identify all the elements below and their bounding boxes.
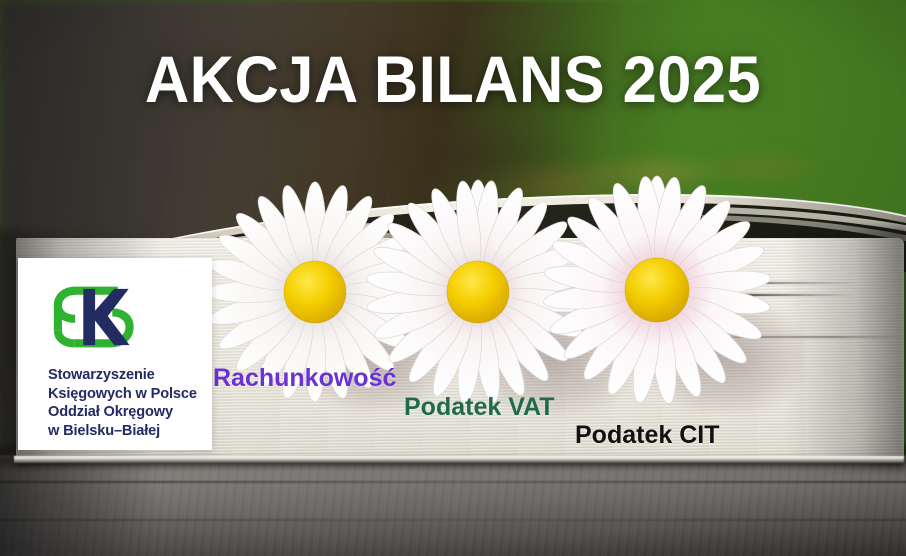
logo-line-3: Oddział Okręgowy: [48, 403, 206, 422]
logo-line-1: Stowarzyszenie: [48, 366, 206, 385]
organization-name: Stowarzyszenie Księgowych w Polsce Oddzi…: [48, 366, 206, 440]
logo-line-4: w Bielsku–Białej: [48, 422, 206, 441]
category-label-rachunkowosc: Rachunkowość: [213, 366, 396, 391]
page-title: AKCJA BILANS 2025: [32, 46, 875, 112]
organization-logo-card: Stowarzyszenie Księgowych w Polsce Oddzi…: [18, 258, 212, 450]
category-label-podatek-vat: Podatek VAT: [404, 395, 555, 420]
skwp-logo-icon: [50, 278, 142, 356]
poster-banner: AKCJA BILANS 2025 Rachunkowość Podatek V…: [0, 0, 906, 556]
category-label-podatek-cit: Podatek CIT: [575, 423, 719, 448]
logo-line-2: Księgowych w Polsce: [48, 385, 206, 404]
